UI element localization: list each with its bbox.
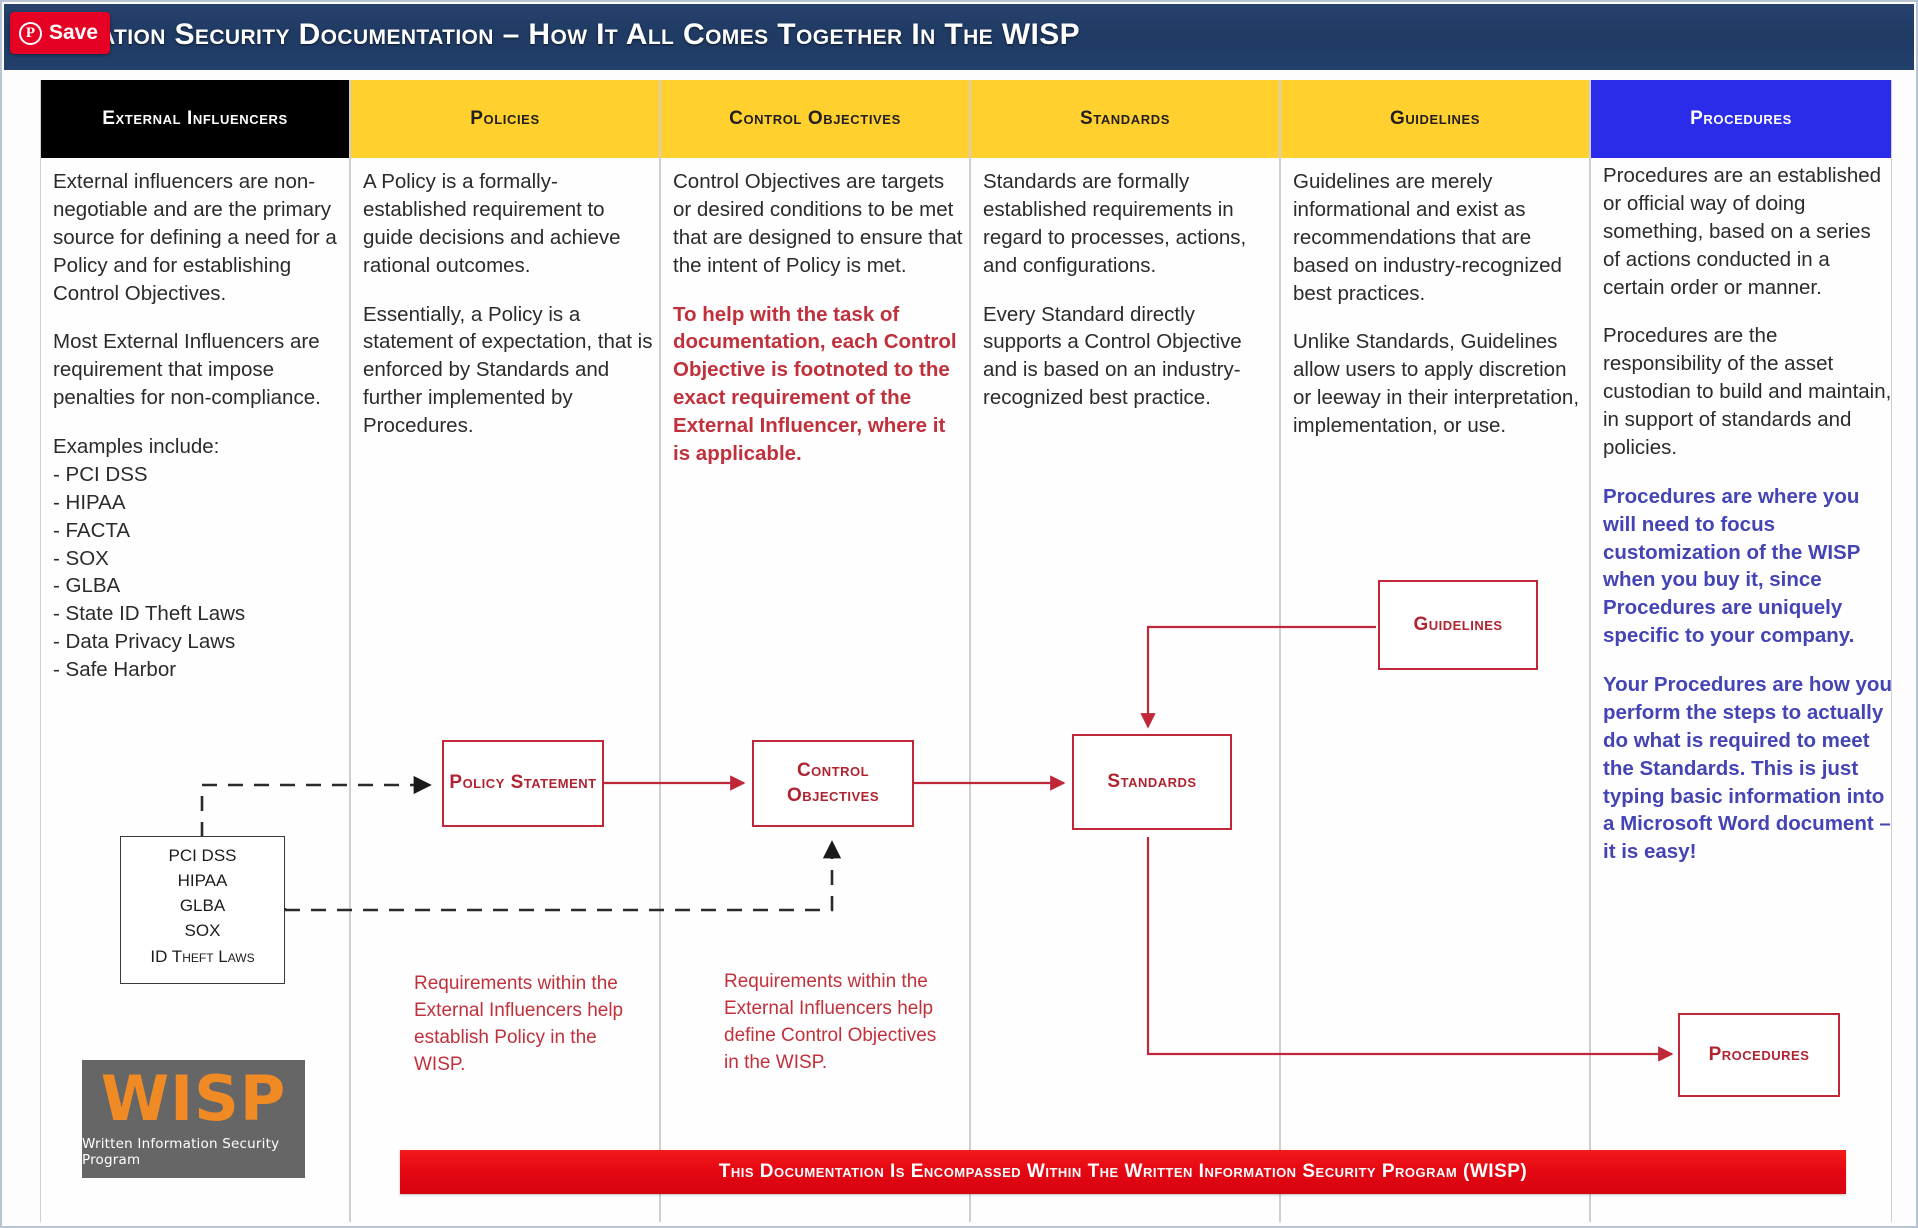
column-header-policies: Policies <box>351 80 659 158</box>
column-standards: Standards Standards are formally establi… <box>970 80 1280 1222</box>
paragraph: Unlike Standards, Guidelines allow users… <box>1293 328 1585 440</box>
paragraph: Control Objectives are targets or desire… <box>673 168 965 280</box>
flow-box-external-influencers[interactable]: PCI DSS HIPAA GLBA SOX ID Theft Laws <box>120 836 285 984</box>
page-title: ation Security Documentation – How It Al… <box>100 18 1080 52</box>
flow-box-procedures[interactable]: Procedures <box>1678 1013 1840 1097</box>
paragraph: Every Standard directly supports a Contr… <box>983 301 1275 413</box>
column-external-influencers: External Influencers External influencer… <box>40 80 350 1222</box>
column-header-procedures: Procedures <box>1591 80 1891 158</box>
flow-box-standards[interactable]: Standards <box>1072 734 1232 830</box>
flow-box-control-objectives[interactable]: Control Objectives <box>752 740 914 827</box>
column-body-control-objectives: Control Objectives are targets or desire… <box>673 168 965 468</box>
column-body-procedures: Procedures are an established or officia… <box>1603 162 1893 866</box>
paragraph: Essentially, a Policy is a statement of … <box>363 301 653 440</box>
list-item: - SOX <box>53 545 343 573</box>
paragraph: Procedures are the responsibility of the… <box>1603 322 1893 461</box>
column-body-standards: Standards are formally established requi… <box>983 168 1275 412</box>
footnote-policies: Requirements within the External Influen… <box>414 970 629 1079</box>
ext-box-line: PCI DSS <box>121 843 284 868</box>
paragraph: Guidelines are merely informational and … <box>1293 168 1585 307</box>
paragraph: Standards are formally established requi… <box>983 168 1275 280</box>
column-body-policies: A Policy is a formally-established requi… <box>363 168 653 440</box>
list-item: - PCI DSS <box>53 461 343 489</box>
examples-list: Examples include: - PCI DSS - HIPAA - FA… <box>53 433 343 684</box>
column-header-external-influencers: External Influencers <box>41 80 349 158</box>
list-item: - Data Privacy Laws <box>53 628 343 656</box>
wisp-logo-subtitle: Written Information Security Program <box>82 1136 305 1168</box>
paragraph-emphasis-red: To help with the task of documentation, … <box>673 301 965 468</box>
paragraph: A Policy is a formally-established requi… <box>363 168 653 280</box>
paragraph-emphasis-blue: Procedures are where you will need to fo… <box>1603 483 1893 650</box>
wisp-logo: WISP Written Information Security Progra… <box>82 1060 305 1178</box>
column-header-standards: Standards <box>971 80 1279 158</box>
paragraph-emphasis-blue: Your Procedures are how you perform the … <box>1603 671 1893 866</box>
comparison-table: External Influencers External influencer… <box>40 80 1892 1222</box>
pinterest-icon: P <box>19 22 42 45</box>
list-item: - GLBA <box>53 572 343 600</box>
ext-box-line: SOX <box>121 918 284 943</box>
examples-list-title: Examples include: <box>53 433 343 461</box>
flow-box-guidelines[interactable]: Guidelines <box>1378 580 1538 670</box>
diagram-page: ation Security Documentation – How It Al… <box>0 0 1918 1228</box>
ext-box-line: HIPAA <box>121 868 284 893</box>
column-header-control-objectives: Control Objectives <box>661 80 969 158</box>
column-body-guidelines: Guidelines are merely informational and … <box>1293 168 1585 440</box>
save-button-label: Save <box>49 21 98 45</box>
column-header-guidelines: Guidelines <box>1281 80 1589 158</box>
paragraph: Procedures are an established or officia… <box>1603 162 1893 301</box>
ext-box-line: ID Theft Laws <box>121 944 284 969</box>
bottom-banner: This Documentation Is Encompassed Within… <box>400 1150 1846 1194</box>
paragraph: Most External Influencers are requiremen… <box>53 328 343 412</box>
flow-box-policy-statement[interactable]: Policy Statement <box>442 740 604 827</box>
column-body-external-influencers: External influencers are non-negotiable … <box>53 168 343 684</box>
list-item: - HIPAA <box>53 489 343 517</box>
wisp-logo-word: WISP <box>101 1070 287 1129</box>
paragraph: External influencers are non-negotiable … <box>53 168 343 307</box>
list-item: - FACTA <box>53 517 343 545</box>
ext-box-line: GLBA <box>121 893 284 918</box>
list-item: - State ID Theft Laws <box>53 600 343 628</box>
pinterest-save-button[interactable]: P Save <box>10 12 110 54</box>
list-item: - Safe Harbor <box>53 656 343 684</box>
title-bar: ation Security Documentation – How It Al… <box>4 4 1914 70</box>
footnote-control-objectives: Requirements within the External Influen… <box>724 968 952 1077</box>
